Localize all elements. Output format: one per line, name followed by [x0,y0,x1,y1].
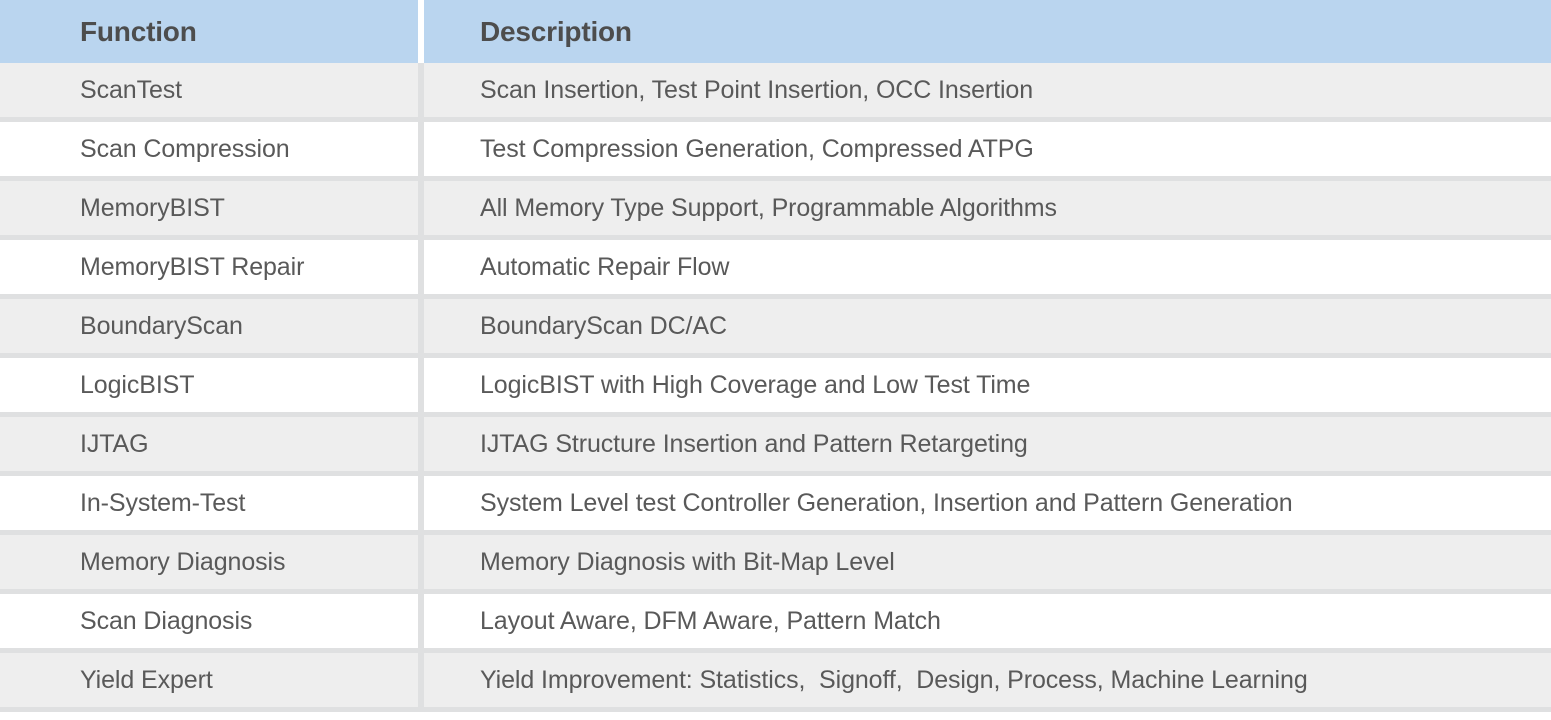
table-header-row: Function Description [0,0,1551,63]
cell-function: Scan Diagnosis [0,594,418,648]
table-row: Memory DiagnosisMemory Diagnosis with Bi… [0,535,1551,589]
table-row: MemoryBIST RepairAutomatic Repair Flow [0,240,1551,294]
cell-description: Automatic Repair Flow [424,240,1551,294]
table-row: Yield ExpertYield Improvement: Statistic… [0,653,1551,707]
cell-description: Memory Diagnosis with Bit-Map Level [424,535,1551,589]
table-row: ScanTestScan Insertion, Test Point Inser… [0,63,1551,117]
cell-description: Test Compression Generation, Compressed … [424,122,1551,176]
cell-description: System Level test Controller Generation,… [424,476,1551,530]
cell-description: Layout Aware, DFM Aware, Pattern Match [424,594,1551,648]
cell-function: BoundaryScan [0,299,418,353]
table-row: Scan CompressionTest Compression Generat… [0,122,1551,176]
column-header-description: Description [424,0,1551,63]
table-row: IJTAGIJTAG Structure Insertion and Patte… [0,417,1551,471]
cell-description: All Memory Type Support, Programmable Al… [424,181,1551,235]
cell-function: Scan Compression [0,122,418,176]
dft-function-table: Function Description ScanTestScan Insert… [0,0,1551,712]
cell-description: BoundaryScan DC/AC [424,299,1551,353]
cell-function: Memory Diagnosis [0,535,418,589]
cell-description: Scan Insertion, Test Point Insertion, OC… [424,63,1551,117]
table-row: Scan DiagnosisLayout Aware, DFM Aware, P… [0,594,1551,648]
table-body: ScanTestScan Insertion, Test Point Inser… [0,63,1551,712]
cell-function: Yield Expert [0,653,418,707]
column-header-function: Function [0,0,418,63]
cell-description: IJTAG Structure Insertion and Pattern Re… [424,417,1551,471]
table-row: In-System-TestSystem Level test Controll… [0,476,1551,530]
table-row: LogicBISTLogicBIST with High Coverage an… [0,358,1551,412]
table-row: BoundaryScanBoundaryScan DC/AC [0,299,1551,353]
cell-function: MemoryBIST Repair [0,240,418,294]
cell-description: Yield Improvement: Statistics, Signoff, … [424,653,1551,707]
cell-function: IJTAG [0,417,418,471]
table-row: MemoryBISTAll Memory Type Support, Progr… [0,181,1551,235]
cell-function: LogicBIST [0,358,418,412]
cell-function: ScanTest [0,63,418,117]
cell-function: In-System-Test [0,476,418,530]
cell-description: LogicBIST with High Coverage and Low Tes… [424,358,1551,412]
cell-function: MemoryBIST [0,181,418,235]
